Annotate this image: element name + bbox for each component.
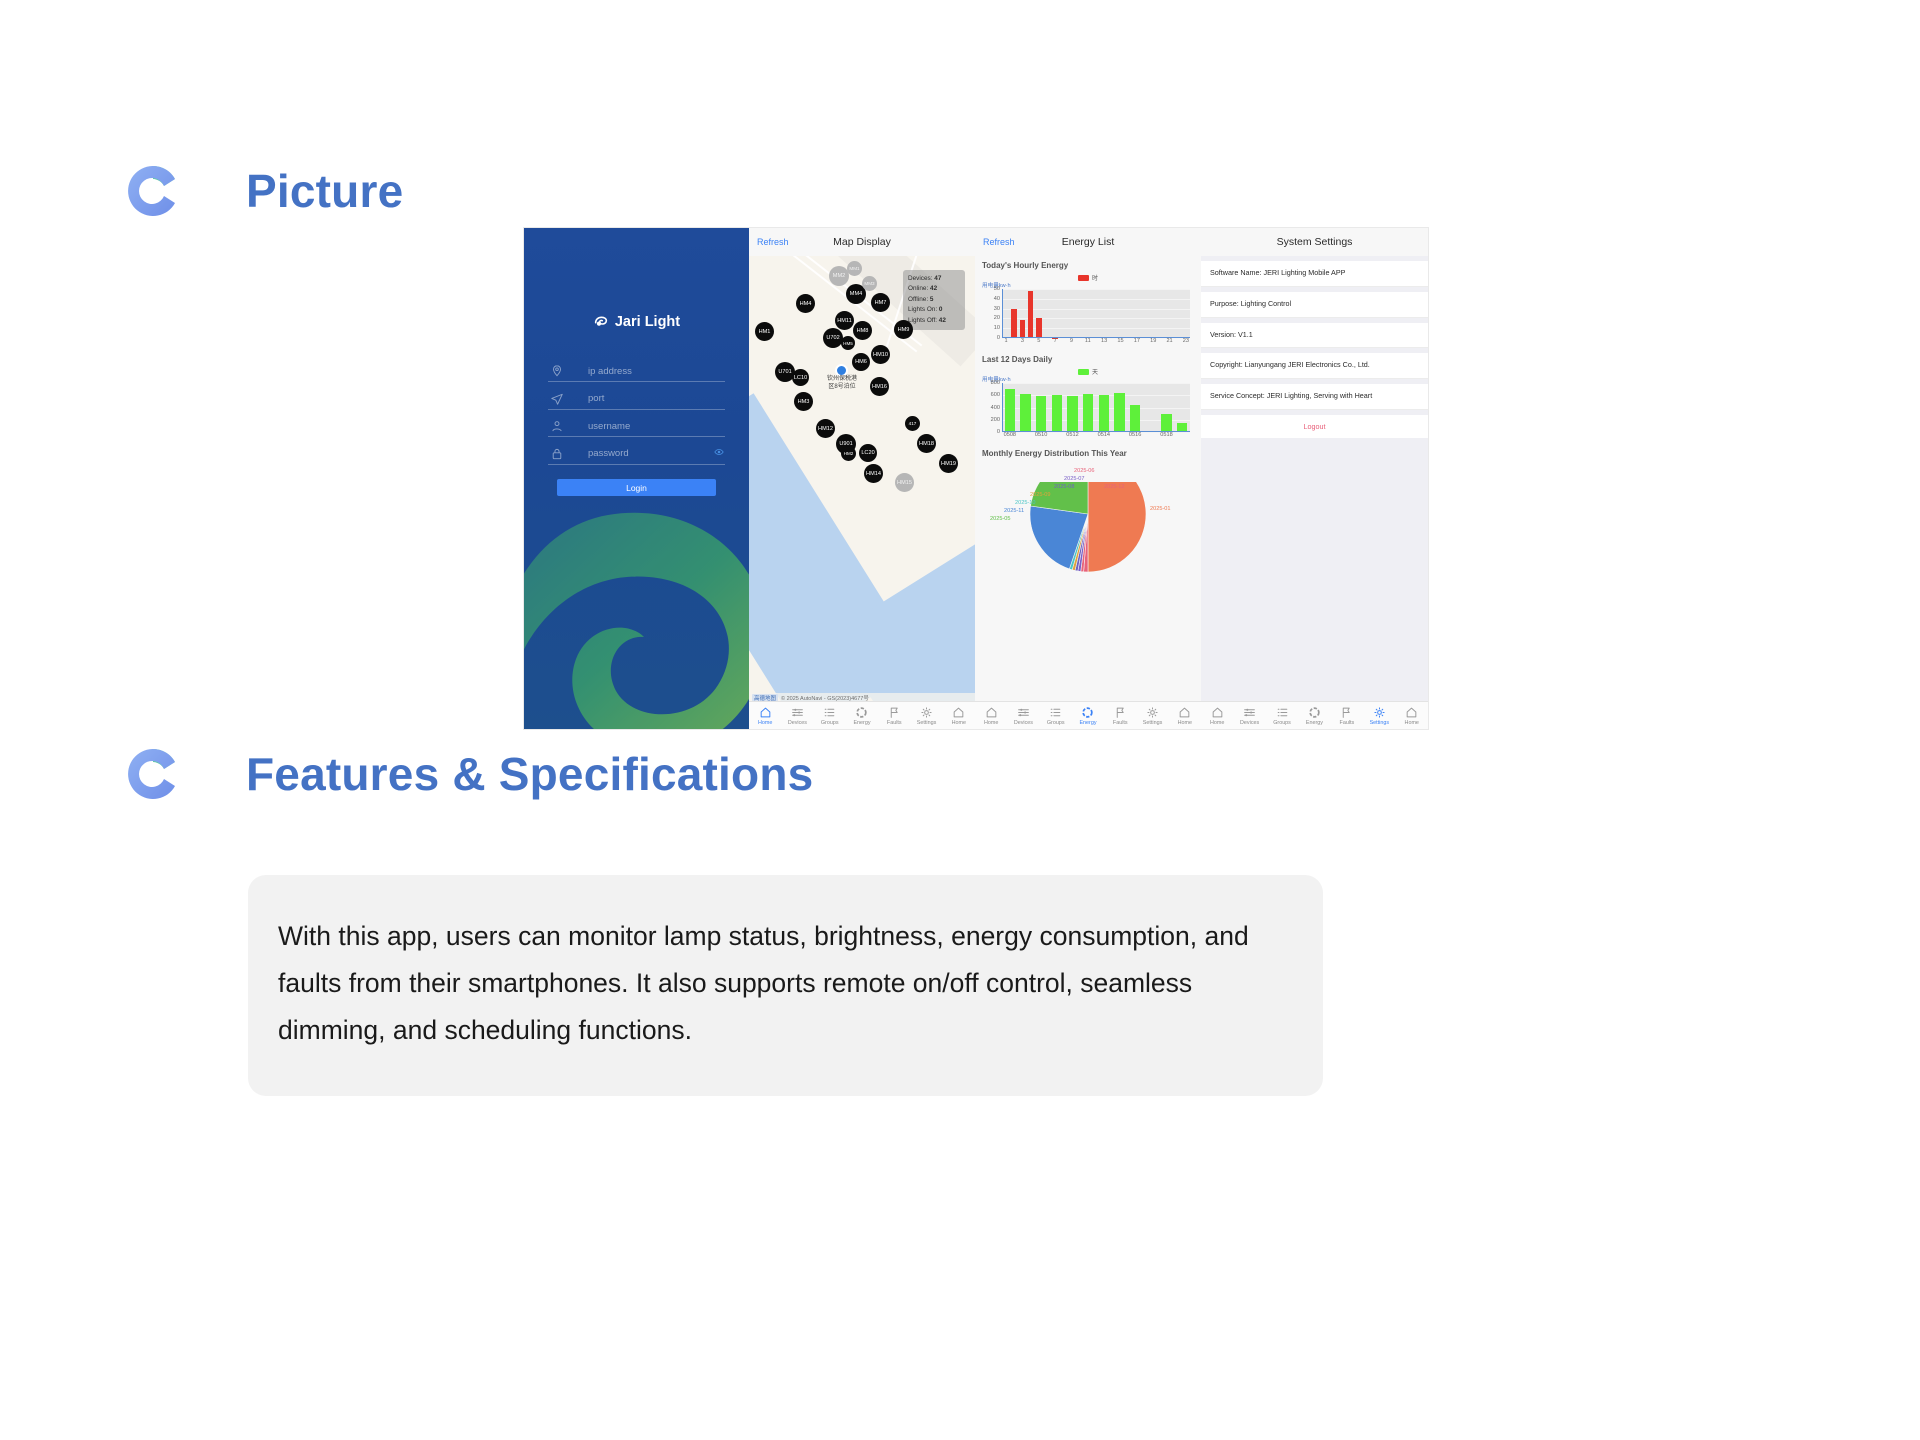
c-logo-icon <box>122 160 184 222</box>
sliders-icon <box>1017 706 1030 719</box>
bar <box>1020 320 1026 338</box>
login-button[interactable]: Login <box>557 479 716 496</box>
legend-label: 天 <box>1092 367 1098 376</box>
hourly-energy-bar-chart: 时 用电量kw·h 010203040501357911131517192123 <box>982 272 1194 350</box>
hourly-chart-title: Today's Hourly Energy <box>982 261 1194 270</box>
x-tick-label: 11 <box>1085 338 1091 344</box>
tab-devices[interactable]: Devices <box>1233 706 1265 726</box>
app-name-label: Jari Light <box>615 314 680 330</box>
y-tick-label: 800 <box>991 380 1000 386</box>
map-poi-label: 钦州保税港区8号泊位 <box>807 376 877 391</box>
map-display-panel: Refresh Map Display Devices: 47 Online: … <box>749 228 975 729</box>
bar <box>1005 389 1016 432</box>
bar <box>1161 414 1172 432</box>
map-marker[interactable]: HM1 <box>755 322 774 341</box>
tab-label: Home <box>984 720 998 726</box>
picture-section-header: Picture <box>122 160 403 222</box>
tab-devices[interactable]: Devices <box>781 706 813 726</box>
y-tick-label: 400 <box>991 405 1000 411</box>
bar <box>1130 405 1141 432</box>
x-tick-label: 0514 <box>1098 432 1110 438</box>
lock-icon <box>548 447 566 461</box>
map-marker[interactable]: HM8 <box>853 321 872 340</box>
tab-label: Home <box>1178 720 1192 726</box>
x-tick-label: 21 <box>1166 338 1172 344</box>
ip-address-field[interactable]: ip address <box>548 361 725 382</box>
tab-groups[interactable]: Groups <box>814 706 846 726</box>
monthly-distribution-card: Monthly Energy Distribution This Year 20… <box>975 444 1201 556</box>
map-marker[interactable]: HM15 <box>895 473 914 492</box>
tab-energy[interactable]: Energy <box>1072 706 1104 726</box>
list-icon <box>823 706 836 719</box>
map-marker[interactable]: HM9 <box>894 320 913 339</box>
setting-row-copyright: Copyright: Lianyungang JERI Electronics … <box>1201 353 1428 379</box>
map-canvas[interactable]: Devices: 47 Online: 42 Offline: 5 Lights… <box>749 256 975 702</box>
x-tick-label: 1 <box>1005 338 1008 344</box>
features-description-box: With this app, users can monitor lamp st… <box>248 875 1323 1096</box>
map-marker[interactable]: HM10 <box>871 345 890 364</box>
hourly-energy-card: Today's Hourly Energy 时 用电量kw·h 01020304… <box>975 256 1201 350</box>
username-placeholder: username <box>588 421 630 432</box>
ip-address-placeholder: ip address <box>588 366 632 377</box>
pie-label: 2025-09 <box>1030 492 1051 498</box>
stat-devices: Devices: 47 <box>908 274 960 284</box>
flag-icon <box>888 706 901 719</box>
tab-label: Home <box>1210 720 1224 726</box>
y-tick-label: 200 <box>991 417 1000 423</box>
system-settings-panel: System Settings Software Name: JERI Ligh… <box>1201 228 1428 729</box>
tab-label: Faults <box>1340 720 1355 726</box>
y-axis: 0200400600800 <box>982 383 1002 432</box>
stat-lights-on: Lights On: 0 <box>908 305 960 315</box>
y-axis-line <box>1002 289 1003 338</box>
tab-label: Devices <box>788 720 807 726</box>
energy-topbar: Refresh Energy List <box>975 228 1201 257</box>
map-marker[interactable]: U702 <box>823 328 843 348</box>
stat-lights-off: Lights Off: 42 <box>908 316 960 326</box>
x-tick-label: 13 <box>1101 338 1107 344</box>
daily-energy-card: Last 12 Days Daily 天 用电量kw·h 02004006008… <box>975 350 1201 444</box>
pie-label: 2025-12 <box>1104 484 1125 490</box>
map-marker[interactable]: LC20 <box>859 444 877 462</box>
setting-row-software-name: Software Name: JERI Lighting Mobile APP <box>1201 261 1428 287</box>
monthly-chart-title: Monthly Energy Distribution This Year <box>982 449 1194 458</box>
plot-area <box>1002 383 1190 432</box>
map-marker[interactable]: HM11 <box>835 311 854 330</box>
send-arrow-icon <box>548 392 566 406</box>
setting-row-version: Version: V1.1 <box>1201 323 1428 349</box>
map-marker[interactable]: HM2 <box>841 446 856 461</box>
tab-home-2[interactable]: Home <box>1169 706 1201 726</box>
x-tick-label: 0510 <box>1035 432 1047 438</box>
x-axis: 050805100512051405160518 <box>1002 432 1190 442</box>
x-axis: 1357911131517192123 <box>1002 338 1190 348</box>
features-body-text: With this app, users can monitor lamp st… <box>278 913 1293 1054</box>
password-field[interactable]: password <box>548 444 725 465</box>
tab-label: Energy <box>1079 720 1096 726</box>
pie-label: 2025-11 <box>1004 508 1024 514</box>
setting-row-service-concept: Service Concept: JERI Lighting, Serving … <box>1201 384 1428 410</box>
tab-label: Settings <box>1370 720 1389 726</box>
energy-list-panel: Refresh Energy List Today's Hourly Energ… <box>975 228 1201 729</box>
y-tick-label: 20 <box>994 315 1000 321</box>
sliders-icon <box>791 706 804 719</box>
y-tick-label: 0 <box>997 429 1000 435</box>
x-tick-label: 23 <box>1183 338 1189 344</box>
settings-tabbar[interactable]: HomeDevicesGroupsEnergyFaultsSettingsHom… <box>1201 701 1428 729</box>
map-marker[interactable]: HM6 <box>852 353 870 371</box>
bar <box>1028 291 1034 338</box>
x-tick-label: 7 <box>1054 338 1057 344</box>
location-pin-icon <box>548 364 566 378</box>
tab-settings[interactable]: Settings <box>1363 706 1395 726</box>
port-field[interactable]: port <box>548 389 725 410</box>
legend-swatch <box>1078 275 1089 281</box>
settings-topbar: System Settings <box>1201 228 1428 257</box>
c-logo-icon <box>122 743 184 805</box>
page-title: Picture <box>246 164 403 218</box>
tab-faults[interactable]: Faults <box>878 706 910 726</box>
home-icon <box>1178 706 1191 719</box>
user-icon <box>548 419 566 433</box>
map-marker[interactable]: HM5 <box>841 336 855 350</box>
map-marker[interactable]: HM12 <box>816 419 835 438</box>
bar <box>1114 393 1125 432</box>
stat-offline: Offline: 5 <box>908 295 960 305</box>
pie-slice <box>1088 482 1146 572</box>
legend-swatch <box>1078 369 1089 375</box>
tab-label: Groups <box>1273 720 1291 726</box>
username-field[interactable]: username <box>548 416 725 437</box>
tab-label: Home <box>758 720 772 726</box>
tab-home[interactable]: Home <box>975 706 1007 726</box>
eye-icon[interactable] <box>713 447 725 457</box>
tab-label: Home <box>1405 720 1419 726</box>
tab-energy[interactable]: Energy <box>846 706 878 726</box>
legend-label: 时 <box>1092 273 1098 282</box>
map-marker[interactable]: 417 <box>905 416 920 431</box>
map-marker[interactable]: HM3 <box>794 392 813 411</box>
hourly-legend: 时 <box>1078 273 1098 282</box>
x-tick-label: 3 <box>1021 338 1024 344</box>
home-icon <box>1405 706 1418 719</box>
map-marker[interactable]: MM2 <box>829 266 849 286</box>
device-stats-box: Devices: 47 Online: 42 Offline: 5 Lights… <box>903 270 965 330</box>
home-icon <box>759 706 772 719</box>
tab-settings[interactable]: Settings <box>910 706 942 726</box>
pie-label: 2025-07 <box>1064 476 1085 482</box>
sliders-icon <box>1243 706 1256 719</box>
bar <box>1020 394 1031 432</box>
pie-label: 2025-05 <box>990 516 1011 522</box>
x-tick-label: 17 <box>1134 338 1140 344</box>
tab-label: Energy <box>853 720 870 726</box>
gear-icon <box>1373 706 1386 719</box>
x-tick-label: 9 <box>1070 338 1073 344</box>
bar <box>1036 318 1042 338</box>
app-screenshot-composite: Jari Light ip address port <box>524 228 1428 729</box>
bar <box>1099 395 1110 432</box>
gear-icon <box>920 706 933 719</box>
y-tick-label: 40 <box>994 296 1000 302</box>
map-marker[interactable]: HM7 <box>871 293 890 312</box>
list-icon <box>1049 706 1062 719</box>
tab-label: Faults <box>887 720 902 726</box>
tab-settings[interactable]: Settings <box>1136 706 1168 726</box>
home-icon <box>985 706 998 719</box>
jari-light-logo-icon <box>593 314 609 330</box>
settings-title: System Settings <box>1201 236 1428 248</box>
map-tabbar[interactable]: HomeDevicesGroupsEnergyFaultsSettingsHom… <box>749 701 975 729</box>
x-tick-label: 5 <box>1037 338 1040 344</box>
home-icon <box>952 706 965 719</box>
features-section-header: Features & Specifications <box>122 743 813 805</box>
map-title: Map Display <box>749 236 975 248</box>
gridline <box>1002 289 1190 290</box>
y-tick-label: 10 <box>994 325 1000 331</box>
x-tick-label: 0508 <box>1004 432 1016 438</box>
x-tick-label: 0518 <box>1160 432 1172 438</box>
login-screen-panel: Jari Light ip address port <box>524 228 749 729</box>
energy-title: Energy List <box>975 236 1201 248</box>
tab-label: Devices <box>1014 720 1033 726</box>
tab-devices[interactable]: Devices <box>1007 706 1039 726</box>
y-tick-label: 0 <box>997 335 1000 341</box>
bar <box>1067 396 1078 432</box>
tab-label: Settings <box>1143 720 1162 726</box>
tab-label: Home <box>952 720 966 726</box>
tab-faults[interactable]: Faults <box>1104 706 1136 726</box>
map-marker[interactable]: HM18 <box>917 434 936 453</box>
setting-row-purpose: Purpose: Lighting Control <box>1201 292 1428 318</box>
x-tick-label: 19 <box>1150 338 1156 344</box>
bar <box>1052 395 1063 432</box>
y-tick-label: 30 <box>994 306 1000 312</box>
home-icon <box>1211 706 1224 719</box>
plot-area <box>1002 289 1190 338</box>
map-marker[interactable]: MM3 <box>862 276 877 291</box>
y-tick-label: 50 <box>994 286 1000 292</box>
tab-label: Settings <box>917 720 936 726</box>
pie-svg <box>1013 482 1163 592</box>
pie-label: 2025-01 <box>1150 506 1171 512</box>
map-marker[interactable]: HM14 <box>864 464 883 483</box>
daily-chart-title: Last 12 Days Daily <box>982 355 1194 364</box>
flag-icon <box>1114 706 1127 719</box>
aperture-icon <box>855 706 868 719</box>
features-title: Features & Specifications <box>246 747 813 801</box>
map-marker[interactable]: MM1 <box>847 261 862 276</box>
y-axis-line <box>1002 383 1003 432</box>
y-tick-label: 600 <box>991 392 1000 398</box>
tab-home[interactable]: Home <box>749 706 781 726</box>
tab-groups[interactable]: Groups <box>1266 706 1298 726</box>
tab-label: Groups <box>821 720 839 726</box>
daily-energy-bar-chart: 天 用电量kw·h 020040060080005080510051205140… <box>982 366 1194 444</box>
tab-label: Energy <box>1306 720 1323 726</box>
login-form: ip address port username <box>548 361 725 471</box>
gridline <box>1002 383 1190 384</box>
list-icon <box>1276 706 1289 719</box>
map-marker[interactable]: HM4 <box>796 294 815 313</box>
settings-list: Software Name: JERI Lighting Mobile APP … <box>1201 256 1428 702</box>
pie-label: 2025-08 <box>1054 484 1075 490</box>
tab-energy[interactable]: Energy <box>1298 706 1330 726</box>
tab-home-2[interactable]: Home <box>1396 706 1428 726</box>
tab-groups[interactable]: Groups <box>1040 706 1072 726</box>
flag-icon <box>1340 706 1353 719</box>
energy-body: Today's Hourly Energy 时 用电量kw·h 01020304… <box>975 256 1201 702</box>
tab-faults[interactable]: Faults <box>1331 706 1363 726</box>
map-topbar: Refresh Map Display <box>749 228 975 257</box>
pie-label: 2025-10 <box>1015 500 1036 506</box>
monthly-energy-pie-chart: 2025-062025-072025-082025-092025-102025-… <box>982 460 1194 556</box>
logout-button[interactable]: Logout <box>1201 415 1428 438</box>
wave-decoration <box>524 459 749 729</box>
tab-label: Devices <box>1240 720 1259 726</box>
daily-legend: 天 <box>1078 367 1098 376</box>
port-placeholder: port <box>588 393 604 404</box>
password-placeholder: password <box>588 448 629 459</box>
pie-label: 2025-06 <box>1074 468 1095 474</box>
y-axis: 01020304050 <box>982 289 1002 338</box>
x-tick-label: 0516 <box>1129 432 1141 438</box>
app-brand: Jari Light <box>524 314 749 330</box>
gear-icon <box>1146 706 1159 719</box>
energy-tabbar[interactable]: HomeDevicesGroupsEnergyFaultsSettingsHom… <box>975 701 1201 729</box>
tab-home[interactable]: Home <box>1201 706 1233 726</box>
aperture-icon <box>1308 706 1321 719</box>
tab-label: Faults <box>1113 720 1128 726</box>
bar <box>1083 394 1094 432</box>
map-marker[interactable]: HM19 <box>939 454 958 473</box>
aperture-icon <box>1081 706 1094 719</box>
x-tick-label: 15 <box>1117 338 1123 344</box>
bar <box>1036 396 1047 432</box>
tab-label: Groups <box>1047 720 1065 726</box>
tab-home-2[interactable]: Home <box>943 706 975 726</box>
x-tick-label: 0512 <box>1066 432 1078 438</box>
bar <box>1011 309 1017 338</box>
stat-online: Online: 42 <box>908 284 960 294</box>
